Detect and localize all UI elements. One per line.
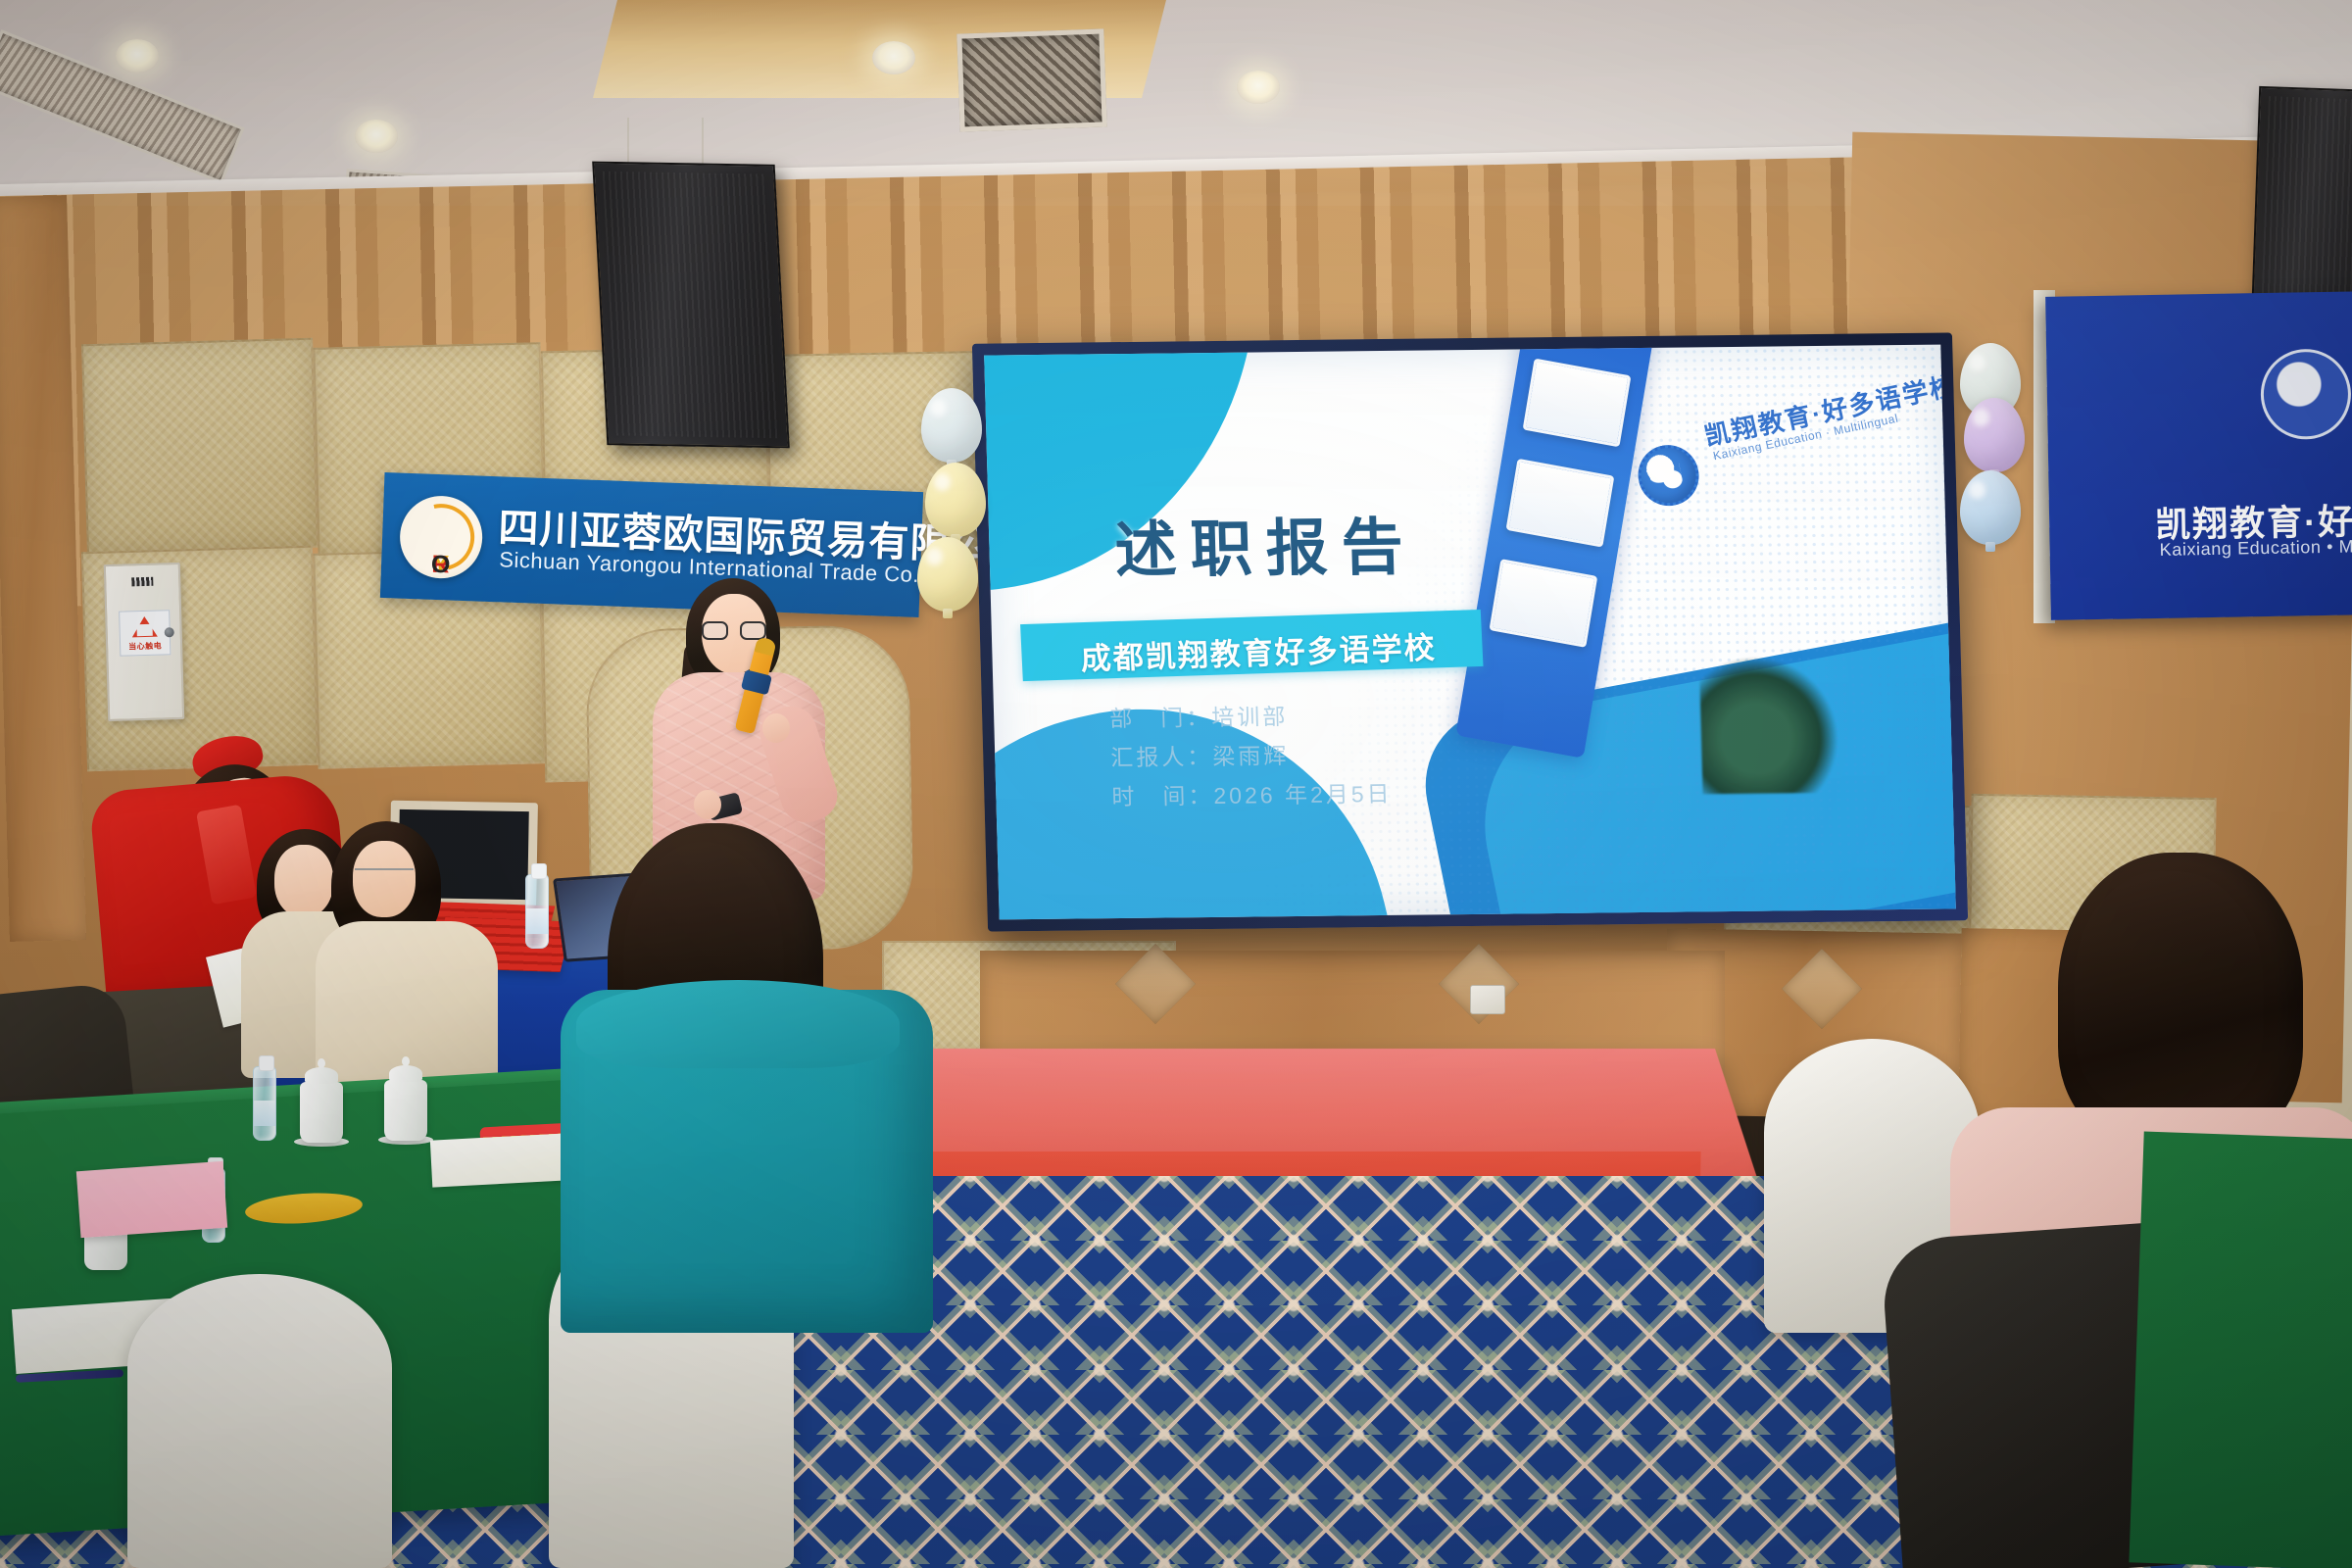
ceiling-downlight-2: [355, 120, 398, 153]
speaker-hanging-wire-left: [627, 118, 629, 165]
electrical-panel[interactable]: 当心触电: [104, 563, 184, 721]
balloon-white-left: [921, 388, 982, 463]
bottle-label: [526, 908, 548, 934]
panel-label-tag: [131, 577, 153, 587]
water-bottle-judge-2: [525, 874, 549, 949]
slide-meta-department: 部 门：培训部: [1109, 696, 1391, 738]
bottle-label: [254, 1101, 275, 1126]
wall-fabric-panel-1: [81, 338, 318, 555]
balloon-highlight: [1973, 409, 1989, 426]
ceiling-downlight-4: [1237, 71, 1280, 104]
teacup-2: [384, 1080, 427, 1141]
warning-sign-text: 当心触电: [121, 640, 170, 652]
ribbon-photo-frame-2: [1506, 459, 1615, 548]
presenter-hand-left: [694, 790, 721, 819]
presentation-slide[interactable]: 凯翔教育·好多语学校 Kaixiang Education · Multilin…: [984, 345, 1956, 920]
speaker-hanging-wire-right: [702, 118, 704, 165]
warning-triangle-icon: [131, 616, 158, 638]
ribbon-photo-frame-3: [1489, 559, 1597, 648]
banquet-chair-2: [127, 1274, 392, 1568]
ceiling-speaker-left: [592, 162, 790, 449]
balloon-highlight: [934, 473, 951, 491]
globe-logo-icon: [2260, 348, 2352, 440]
audience-center-hood: [576, 980, 900, 1068]
ceiling-downlight-1: [116, 39, 159, 73]
glasses-icon: [702, 621, 766, 640]
judge2-face: [274, 845, 333, 917]
balloon-purple-right: [1964, 398, 2025, 472]
conference-room-photo: YRO 四川亚蓉欧国际贸易有限公司 Sichuan Yarongou Inter…: [0, 0, 2352, 1568]
slide-meta-date: 时 间：2026 年2月5日: [1111, 774, 1393, 816]
balloon-blue-right: [1960, 470, 2021, 545]
slide-title: 述职报告: [1113, 498, 1417, 590]
balloon-highlight: [1969, 354, 1985, 371]
led-screen-bezel: 凯翔教育·好多语学校 Kaixiang Education · Multilin…: [972, 332, 1968, 931]
slide-meta-block: 部 门：培训部 汇报人：梁雨辉 时 间：2026 年2月5日: [1109, 696, 1393, 816]
balloon-yellow-left-1: [925, 463, 986, 537]
teacup-1: [300, 1082, 343, 1143]
banner-yarongou: YRO 四川亚蓉欧国际贸易有限公司 Sichuan Yarongou Inter…: [380, 472, 923, 617]
audience-right-hair: [2058, 853, 2303, 1147]
banner-right-english: Kaixiang Education • Multilin: [2159, 536, 2352, 561]
power-outlet[interactable]: [1470, 985, 1505, 1014]
presenter-hand-right: [762, 713, 790, 743]
guest-table-right: [2129, 1132, 2352, 1568]
electric-shock-warning-sign: 当心触电: [119, 610, 171, 656]
globe-icon: [1633, 440, 1705, 512]
balloon-yellow-left-2: [917, 537, 978, 612]
balloon-highlight: [926, 548, 943, 565]
banner-kaixiang: 凯翔教育·好多 Kaixiang Education • Multilin: [2045, 291, 2352, 620]
balloon-highlight: [930, 399, 947, 416]
ribbon-photo-frame-1: [1523, 359, 1632, 448]
water-bottle-table-1: [253, 1066, 276, 1141]
judge3-glasses-icon: [355, 868, 414, 882]
glasses-lens-left: [702, 621, 728, 640]
slide-photo-foliage: [1699, 656, 1840, 795]
slide-meta-reporter: 汇报人：梁雨辉: [1110, 735, 1392, 777]
speaker-grill: [603, 171, 780, 439]
place-name-card: [76, 1161, 227, 1238]
yro-logo-icon: YRO: [399, 495, 484, 580]
ceiling-downlight-3: [872, 41, 915, 74]
ceiling-air-vent-square: [956, 28, 1106, 131]
balloon-highlight: [1969, 481, 1985, 499]
panel-lock-icon[interactable]: [165, 627, 174, 637]
notepad-2: [430, 1133, 569, 1187]
microphone-grip-band: [741, 669, 772, 695]
